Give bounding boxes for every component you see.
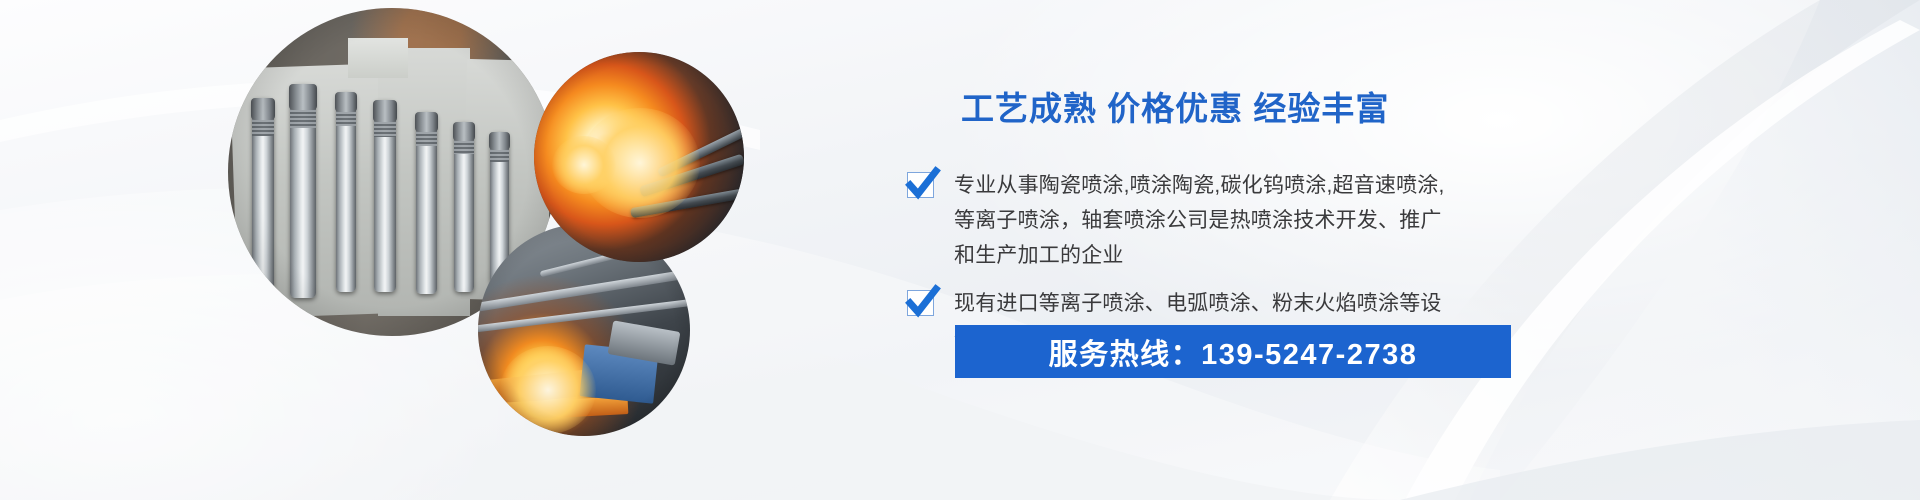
bullet-line: 现有进口等离子喷涂、电弧喷涂、粉末火焰喷涂等设 [954, 286, 1442, 321]
promo-banner: 工艺成熟 价格优惠 经验丰富 专业从事陶瓷喷涂,喷涂陶瓷,碳化钨喷涂,超音速喷涂… [0, 0, 1920, 500]
feature-bullet-0: 专业从事陶瓷喷涂,喷涂陶瓷,碳化钨喷涂,超音速喷涂, 等离子喷涂，轴套喷涂公司是… [907, 168, 1445, 273]
banner-headline: 工艺成熟 价格优惠 经验丰富 [961, 82, 1389, 130]
service-hotline-button[interactable]: 服务热线：139-5247-2738 [955, 325, 1511, 378]
bullet-line: 和生产加工的企业 [954, 238, 1445, 273]
feature-bullet-0-text: 专业从事陶瓷喷涂,喷涂陶瓷,碳化钨喷涂,超音速喷涂, 等离子喷涂，轴套喷涂公司是… [954, 168, 1445, 273]
check-icon [907, 290, 934, 316]
check-icon [907, 172, 934, 198]
service-hotline-label: 服务热线：139-5247-2738 [1049, 331, 1418, 373]
bullet-line: 专业从事陶瓷喷涂,喷涂陶瓷,碳化钨喷涂,超音速喷涂, [954, 168, 1445, 203]
bullet-line: 等离子喷涂，轴套喷涂公司是热喷涂技术开发、推广 [954, 203, 1445, 238]
